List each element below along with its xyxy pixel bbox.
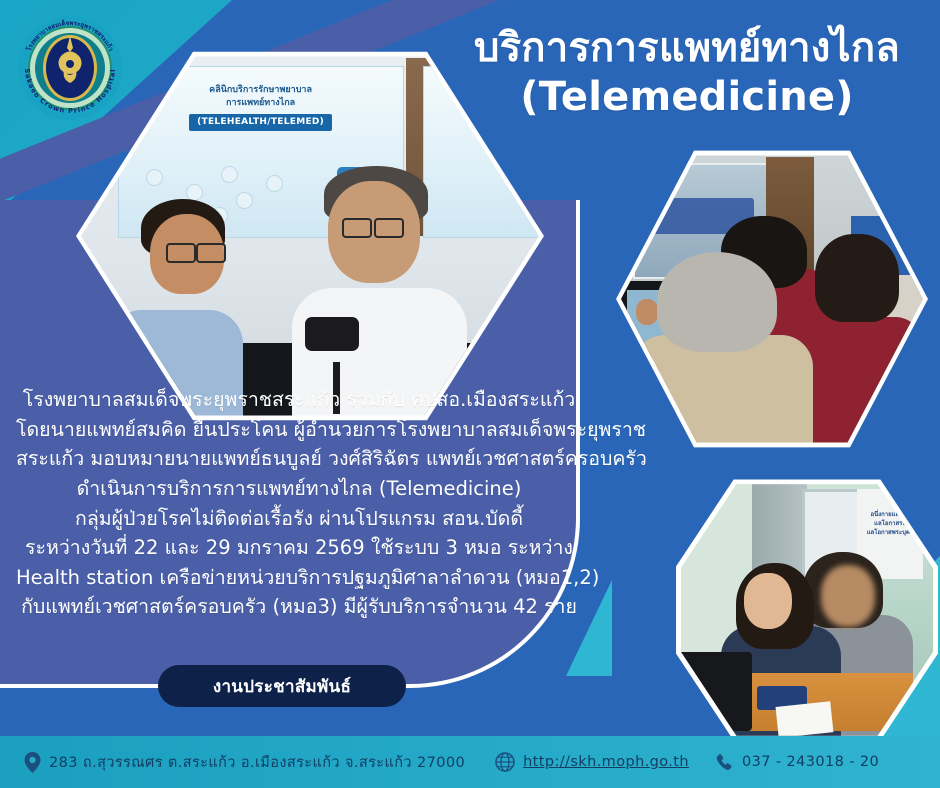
body-line: ดำเนินการบริการการแพทย์ทางไกล (Telemedic… (16, 474, 582, 504)
hospital-logo: โรงพยาบาลสมเด็จพระยุพราชสระแก้ว Sakaeo C… (14, 12, 126, 124)
banner-line-1: คลินิกบริการรักษาพยาบาล (209, 85, 312, 95)
body-line: ระหว่างวันที่ 22 และ 29 มกราคม 2569 ใช้ร… (16, 533, 582, 563)
footer-address: 283 ถ.สุวรรณศร ต.สระแก้ว อ.เมืองสระแก้ว … (24, 751, 465, 774)
website-url[interactable]: http://skh.moph.go.th (523, 754, 689, 770)
footer-website[interactable]: http://skh.moph.go.th (495, 752, 689, 772)
public-relations-badge[interactable]: งานประชาสัมพันธ์ (158, 665, 406, 707)
banner-line-2: การแพทย์ทางไกล (226, 98, 295, 108)
banner-tag: (TELEHEALTH/TELEMED) (189, 114, 332, 132)
body-line: กับแพทย์เวชศาสตร์ครอบครัว (หมอ3) มีผู้รั… (16, 592, 582, 622)
address-text: 283 ถ.สุวรรณศร ต.สระแก้ว อ.เมืองสระแก้ว … (49, 751, 465, 774)
body-line: โดยนายแพทย์สมคิด ยืนประโคน ผู้อำนวยการโร… (16, 415, 582, 445)
body-line: Health station เครือข่ายหน่วยบริการปฐมภู… (16, 563, 582, 593)
badge-label: งานประชาสัมพันธ์ (213, 673, 351, 700)
poster-title: บริการการแพทย์ทางไกล (Telemedicine) (448, 24, 926, 122)
phone-icon (715, 753, 734, 772)
room-poster-line-3: แลโอกาสพระบุคล (867, 529, 914, 536)
body-line: สระแก้ว มอบหมายนายแพทย์ธนบูลย์ วงศ์สิริฉ… (16, 444, 582, 474)
location-pin-icon (24, 752, 41, 773)
body-line: กลุ่มผู้ป่วยโรคไม่ติดต่อเรื้อรัง ผ่านโปร… (16, 504, 582, 534)
footer-phone: 037 - 243018 - 20 (715, 753, 879, 772)
room-poster-line-2: แลโอกาสรบ (874, 520, 906, 527)
phone-number: 037 - 243018 - 20 (742, 754, 879, 770)
title-line-1: บริการการแพทย์ทางไกล (474, 25, 900, 71)
footer-bar: 283 ถ.สุวรรณศร ต.สระแก้ว อ.เมืองสระแก้ว … (0, 736, 940, 788)
body-line: โรงพยาบาลสมเด็จพระยุพราชสระแก้ว ร่วมกับ … (16, 385, 582, 415)
globe-icon (495, 752, 515, 772)
telemedicine-poster: โรงพยาบาลสมเด็จพระยุพราชสระแก้ว Sakaeo C… (0, 0, 940, 788)
title-line-2: (Telemedicine) (448, 73, 926, 122)
photo-consultation-room-nurse-patient: อนึ่งกายและจิต แลโอกาสรบ แลโอกาสพระบุคล (676, 474, 938, 746)
poster-body-text: โรงพยาบาลสมเด็จพระยุพราชสระแก้ว ร่วมกับ … (16, 385, 582, 622)
